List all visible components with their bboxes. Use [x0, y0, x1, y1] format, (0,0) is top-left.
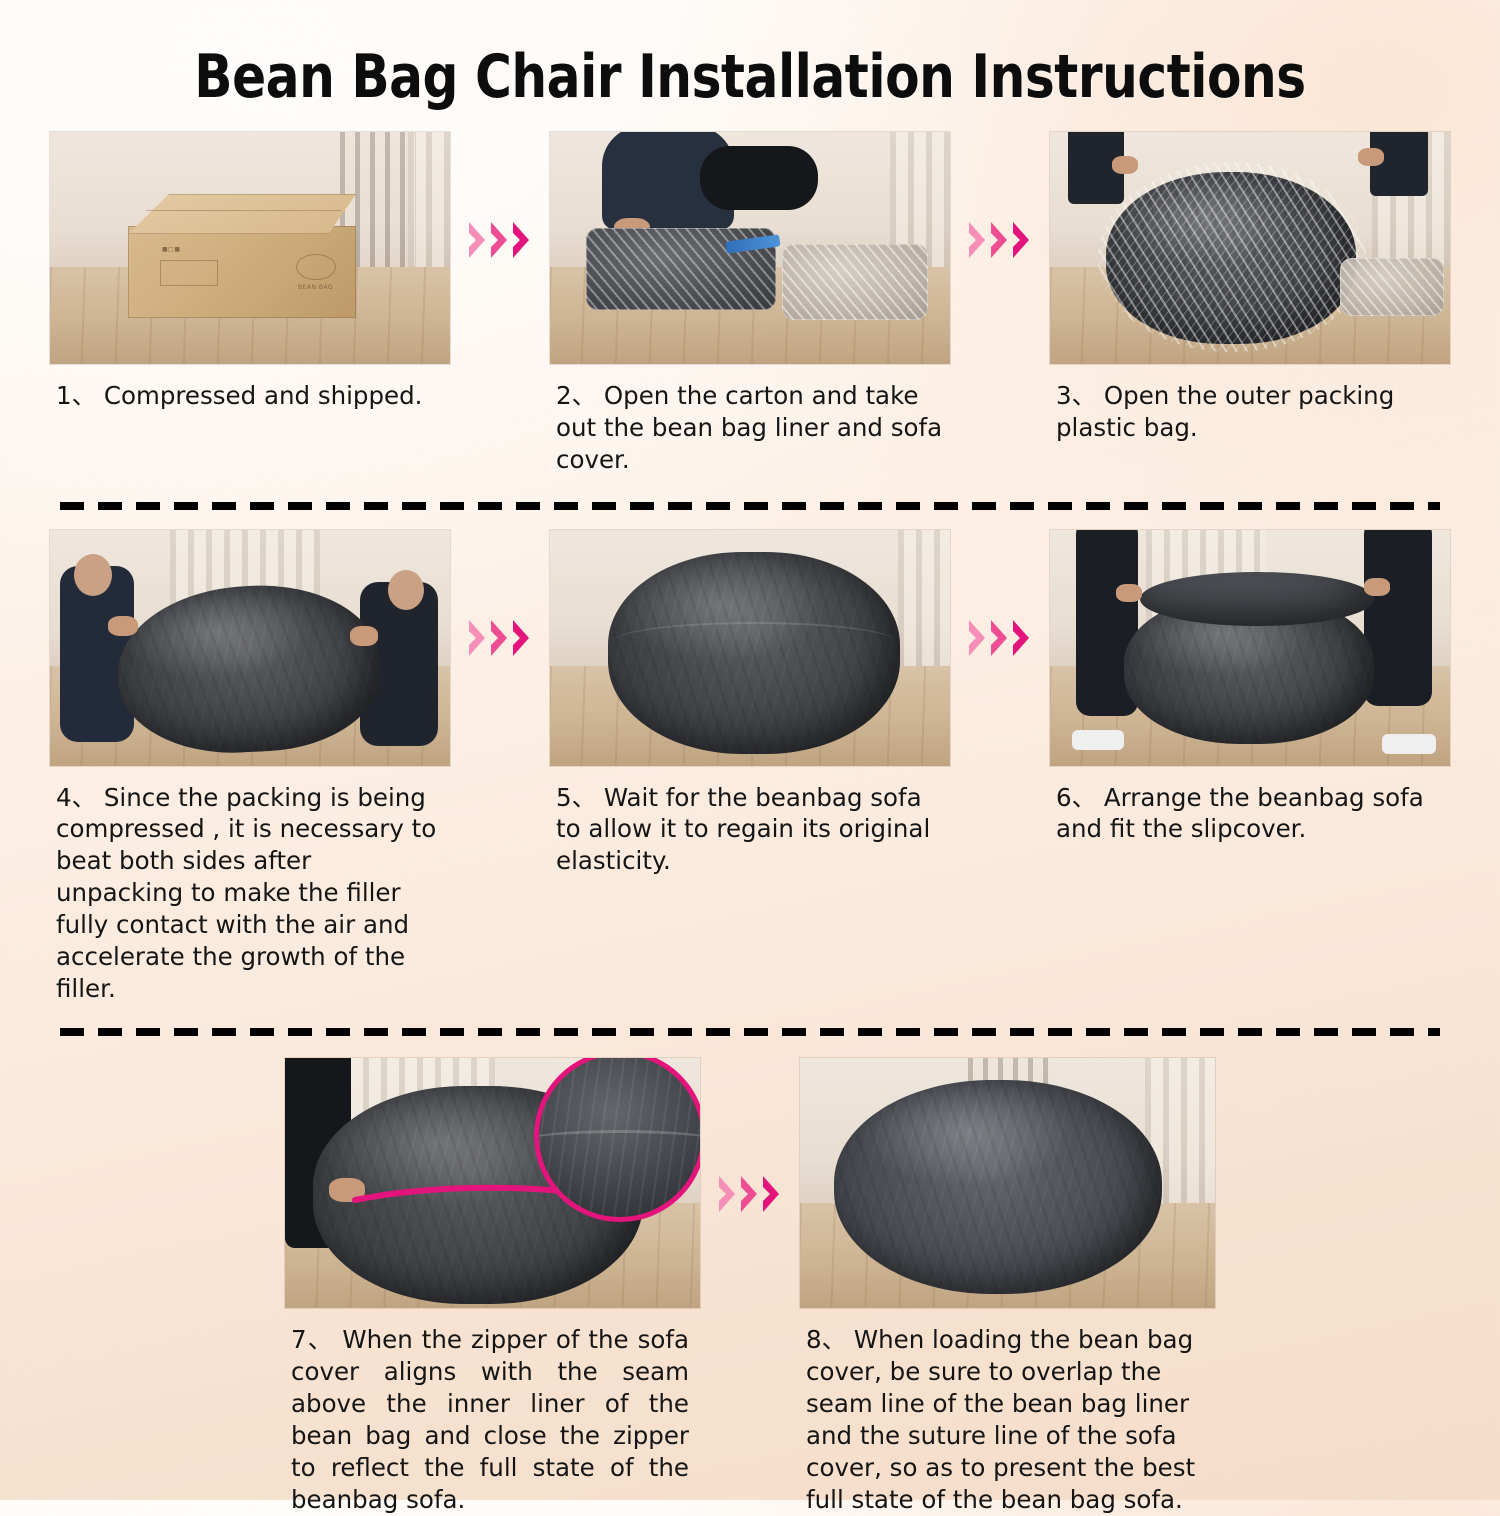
step-1-photo: ■□■ BEAN BAG: [50, 132, 450, 364]
magnifier-callout: [534, 1058, 700, 1222]
step-5-photo: [550, 530, 950, 766]
spare-bag: [1340, 258, 1444, 316]
shoe-right: [1382, 734, 1436, 754]
page-header: Bean Bag Chair Installation Instructions: [0, 0, 1500, 126]
person-hand-left: [1112, 156, 1138, 174]
step-card-4: 4、 Since the packing is being compressed…: [50, 530, 450, 1005]
triple-chevron-right-icon: [968, 618, 1032, 658]
step-card-8: 8、 When loading the bean bag cover, be s…: [800, 1058, 1215, 1515]
step-3-caption: 3、 Open the outer packing plastic bag.: [1050, 364, 1450, 444]
slipcover-being-fitted: [1140, 572, 1374, 626]
step-card-2: 2、 Open the carton and take out the bean…: [550, 132, 950, 476]
person-legs: [700, 146, 818, 210]
step-7-photo: [285, 1058, 700, 1308]
person-hand-right: [1358, 148, 1384, 166]
chevron-right-icon: [968, 618, 988, 658]
arrow-step-5-to-6: [950, 618, 1050, 658]
hand-grip-right: [350, 626, 378, 646]
curtain-light: [898, 530, 950, 676]
carton-logo-icon: [296, 254, 336, 280]
carton-small-text: ■□■: [162, 246, 181, 253]
divider-row-1: [60, 502, 1440, 510]
chevron-right-icon: [468, 220, 488, 260]
triple-chevron-right-icon: [468, 220, 532, 260]
step-4-photo: [50, 530, 450, 766]
vacuum-bag-cover: [782, 244, 928, 320]
carton-label-box: [160, 260, 218, 286]
chevron-right-icon: [968, 220, 988, 260]
carton-brand-text: BEAN BAG: [298, 284, 333, 291]
chevron-right-icon: [990, 618, 1010, 658]
arrow-step-2-to-3: [950, 220, 1050, 260]
chevron-right-icon: [990, 220, 1010, 260]
chevron-right-icon: [490, 220, 510, 260]
steps-row-2: 4、 Since the packing is being compressed…: [0, 510, 1500, 1005]
step-card-6: 6、 Arrange the beanbag sofa and fit the …: [1050, 530, 1450, 846]
hand-left: [329, 1178, 365, 1202]
chevron-right-icon: [512, 220, 532, 260]
step-card-3: 3、 Open the outer packing plastic bag.: [1050, 132, 1450, 444]
bag-texture: [1106, 172, 1356, 344]
hand-right: [1364, 578, 1390, 596]
step-4-caption: 4、 Since the packing is being compressed…: [50, 766, 450, 1005]
steps-row-3: 7、 When the zipper of the sofa cover ali…: [0, 1036, 1500, 1515]
step-5-caption: 5、 Wait for the beanbag sofa to allow it…: [550, 766, 950, 878]
steps-row-1: ■□■ BEAN BAG 1、 Compressed and shipped.: [0, 126, 1500, 476]
step-8-caption: 8、 When loading the bean bag cover, be s…: [800, 1308, 1208, 1515]
callout-seam-line: [534, 1130, 700, 1152]
chevron-right-icon: [1012, 618, 1032, 658]
compressed-bean-bag: [1106, 172, 1356, 344]
hand-grip-left: [108, 616, 138, 636]
carton-tape: [146, 210, 341, 211]
chevron-right-icon: [512, 618, 532, 658]
person-left-head: [74, 554, 112, 596]
bag-seam-line: [612, 622, 896, 662]
triple-chevron-right-icon: [968, 220, 1032, 260]
chevron-right-icon: [762, 1174, 782, 1214]
step-1-caption: 1、 Compressed and shipped.: [50, 364, 450, 412]
person-right-body: [1364, 530, 1432, 706]
chevron-right-icon: [490, 618, 510, 658]
curtain-light: [408, 132, 450, 276]
chevron-right-icon: [468, 618, 488, 658]
hand-left: [1116, 584, 1142, 602]
arrow-step-4-to-5: [450, 618, 550, 658]
step-card-7: 7、 When the zipper of the sofa cover ali…: [285, 1058, 700, 1515]
triple-chevron-right-icon: [468, 618, 532, 658]
step-3-photo: [1050, 132, 1450, 364]
plush-texture: [834, 1080, 1162, 1294]
step-card-1: ■□■ BEAN BAG 1、 Compressed and shipped.: [50, 132, 450, 412]
step-2-photo: [550, 132, 950, 364]
step-7-caption: 7、 When the zipper of the sofa cover ali…: [285, 1308, 693, 1515]
shoe-left: [1072, 730, 1124, 750]
step-8-photo: [800, 1058, 1215, 1308]
divider-row-2: [60, 1028, 1440, 1036]
step-6-photo: [1050, 530, 1450, 766]
chevron-right-icon: [740, 1174, 760, 1214]
finished-bean-bag-chair: [834, 1080, 1162, 1294]
triple-chevron-right-icon: [718, 1174, 782, 1214]
chevron-right-icon: [1012, 220, 1032, 260]
step-card-5: 5、 Wait for the beanbag sofa to allow it…: [550, 530, 950, 878]
chevron-right-icon: [718, 1174, 738, 1214]
arrow-step-1-to-2: [450, 220, 550, 260]
step-2-caption: 2、 Open the carton and take out the bean…: [550, 364, 950, 476]
step-6-caption: 6、 Arrange the beanbag sofa and fit the …: [1050, 766, 1450, 846]
arrow-step-7-to-8: [700, 1174, 800, 1214]
page-title: Bean Bag Chair Installation Instructions: [53, 42, 1448, 112]
person-right-head: [388, 570, 424, 610]
